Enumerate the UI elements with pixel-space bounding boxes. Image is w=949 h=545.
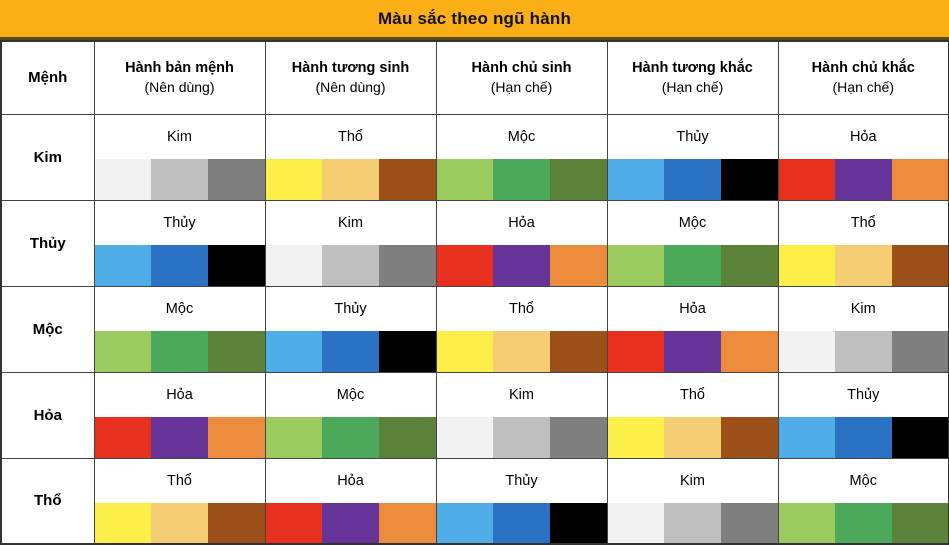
table-body: KimKimThổMộcThủyHỏaThủyThủyKimHỏaMộcThổM…	[1, 114, 949, 544]
color-swatch	[379, 245, 436, 286]
table-row: MộcMộcThủyThổHỏaKim	[1, 286, 949, 372]
color-swatch	[266, 503, 323, 544]
column-header-sub: (Hạn chế)	[779, 79, 949, 97]
element-name-label: Mộc	[95, 287, 265, 331]
color-swatch	[892, 159, 949, 200]
color-swatch	[721, 503, 778, 544]
element-name-label: Thủy	[779, 373, 949, 417]
color-swatch	[721, 417, 778, 458]
element-cell-inner: Hỏa	[437, 201, 607, 286]
color-swatch	[779, 245, 836, 286]
color-swatch	[779, 503, 836, 544]
color-swatch	[493, 159, 550, 200]
element-color-cell: Hỏa	[607, 286, 778, 372]
column-header-hanh-chu-khac: Hành chủ khắc (Hạn chế)	[778, 41, 949, 114]
element-cell-inner: Kim	[95, 115, 265, 200]
element-color-cell: Mộc	[778, 458, 949, 544]
element-name-label: Thủy	[437, 459, 607, 503]
color-swatch-strip	[437, 245, 607, 286]
element-name-label: Thủy	[95, 201, 265, 245]
column-header-hanh-chu-sinh: Hành chủ sinh (Hạn chế)	[436, 41, 607, 114]
color-swatch-strip	[608, 245, 778, 286]
color-swatch	[95, 503, 152, 544]
color-swatch	[95, 417, 152, 458]
color-swatch	[608, 503, 665, 544]
color-swatch	[95, 159, 152, 200]
column-header-main: Hành chủ khắc	[812, 60, 915, 76]
column-header-sub: (Hạn chế)	[437, 79, 607, 97]
column-header-sub: (Nên dùng)	[95, 79, 265, 97]
color-swatch	[493, 417, 550, 458]
color-swatch	[608, 159, 665, 200]
color-swatch-strip	[95, 331, 265, 372]
color-swatch	[664, 417, 721, 458]
color-swatch	[835, 331, 892, 372]
color-swatch	[664, 159, 721, 200]
color-swatch-strip	[95, 503, 265, 544]
table-row: HỏaHỏaMộcKimThổThủy	[1, 372, 949, 458]
element-cell-inner: Thổ	[266, 115, 436, 200]
color-swatch	[835, 503, 892, 544]
color-swatch	[493, 245, 550, 286]
element-color-cell: Thổ	[607, 372, 778, 458]
color-swatch	[608, 417, 665, 458]
element-color-cell: Hỏa	[436, 200, 607, 286]
color-swatch	[437, 417, 494, 458]
color-swatch	[721, 159, 778, 200]
color-swatch	[95, 331, 152, 372]
color-swatch	[721, 331, 778, 372]
element-color-cell: Hỏa	[265, 458, 436, 544]
color-swatch	[266, 159, 323, 200]
color-swatch	[437, 245, 494, 286]
color-swatch	[322, 417, 379, 458]
element-name-label: Thủy	[608, 115, 778, 159]
element-cell-inner: Thủy	[266, 287, 436, 372]
element-color-cell: Mộc	[607, 200, 778, 286]
element-color-cell: Hỏa	[778, 114, 949, 200]
element-cell-inner: Thổ	[437, 287, 607, 372]
color-swatch	[208, 331, 265, 372]
element-color-cell: Thủy	[778, 372, 949, 458]
element-cell-inner: Kim	[437, 373, 607, 458]
color-swatch-strip	[95, 245, 265, 286]
element-color-cell: Kim	[607, 458, 778, 544]
color-swatch	[151, 331, 208, 372]
element-color-cell: Thổ	[265, 114, 436, 200]
column-header-main: Hành bản mệnh	[125, 60, 234, 76]
color-swatch	[721, 245, 778, 286]
row-label-menh: Hỏa	[1, 372, 94, 458]
color-swatch-strip	[779, 331, 949, 372]
color-swatch	[608, 245, 665, 286]
element-name-label: Kim	[95, 115, 265, 159]
color-swatch-strip	[779, 159, 949, 200]
color-swatch-strip	[608, 503, 778, 544]
color-swatch	[151, 503, 208, 544]
color-swatch	[151, 245, 208, 286]
element-name-label: Kim	[266, 201, 436, 245]
color-swatch	[550, 245, 607, 286]
color-swatch	[437, 159, 494, 200]
color-swatch	[151, 159, 208, 200]
color-swatch	[892, 245, 949, 286]
element-cell-inner: Mộc	[266, 373, 436, 458]
color-swatch	[266, 245, 323, 286]
color-swatch-strip	[608, 331, 778, 372]
table-row: KimKimThổMộcThủyHỏa	[1, 114, 949, 200]
element-name-label: Kim	[779, 287, 949, 331]
color-swatch	[550, 331, 607, 372]
color-swatch-strip	[266, 159, 436, 200]
color-swatch-strip	[437, 417, 607, 458]
color-swatch	[322, 245, 379, 286]
table-row: ThổThổHỏaThủyKimMộc	[1, 458, 949, 544]
element-cell-inner: Hỏa	[266, 459, 436, 544]
row-label-menh: Mộc	[1, 286, 94, 372]
column-header-hanh-ban-menh: Hành bản mệnh (Nên dùng)	[94, 41, 265, 114]
row-label-menh: Kim	[1, 114, 94, 200]
element-color-cell: Kim	[265, 200, 436, 286]
color-swatch-strip	[608, 417, 778, 458]
color-swatch	[835, 159, 892, 200]
color-swatch-strip	[266, 417, 436, 458]
color-swatch	[779, 331, 836, 372]
column-header-sub: (Hạn chế)	[608, 79, 778, 97]
color-swatch	[664, 503, 721, 544]
column-header-menh: Mệnh	[1, 41, 94, 114]
element-name-label: Thổ	[95, 459, 265, 503]
element-cell-inner: Mộc	[437, 115, 607, 200]
color-swatch	[322, 331, 379, 372]
element-color-cell: Thủy	[265, 286, 436, 372]
color-swatch	[550, 417, 607, 458]
color-swatch-strip	[95, 159, 265, 200]
color-swatch-strip	[266, 245, 436, 286]
chart-title: Màu sắc theo ngũ hành	[378, 10, 571, 27]
element-color-cell: Mộc	[265, 372, 436, 458]
column-header-hanh-tuong-sinh: Hành tương sinh (Nên dùng)	[265, 41, 436, 114]
color-swatch	[550, 159, 607, 200]
color-swatch	[266, 417, 323, 458]
color-swatch	[208, 245, 265, 286]
element-name-label: Hỏa	[95, 373, 265, 417]
element-color-cell: Hỏa	[94, 372, 265, 458]
element-name-label: Hỏa	[779, 115, 949, 159]
color-swatch-strip	[779, 245, 949, 286]
element-color-cell: Thủy	[607, 114, 778, 200]
element-name-label: Mộc	[437, 115, 607, 159]
color-swatch-strip	[437, 503, 607, 544]
color-swatch	[379, 159, 436, 200]
color-swatch	[322, 159, 379, 200]
color-swatch	[437, 331, 494, 372]
row-label-menh: Thủy	[1, 200, 94, 286]
color-swatch-strip	[266, 331, 436, 372]
color-swatch	[208, 417, 265, 458]
element-cell-inner: Thổ	[95, 459, 265, 544]
color-swatch	[208, 503, 265, 544]
element-cell-inner: Thủy	[608, 115, 778, 200]
element-color-cell: Thổ	[436, 286, 607, 372]
element-name-label: Thủy	[266, 287, 436, 331]
element-name-label: Mộc	[608, 201, 778, 245]
element-color-cell: Kim	[778, 286, 949, 372]
element-color-cell: Thủy	[436, 458, 607, 544]
color-swatch	[892, 417, 949, 458]
element-name-label: Hỏa	[608, 287, 778, 331]
color-swatch	[664, 245, 721, 286]
color-swatch-strip	[266, 503, 436, 544]
element-cell-inner: Kim	[608, 459, 778, 544]
color-swatch	[608, 331, 665, 372]
color-swatch	[835, 417, 892, 458]
color-swatch	[379, 331, 436, 372]
element-name-label: Thổ	[266, 115, 436, 159]
element-cell-inner: Thủy	[437, 459, 607, 544]
column-header-sub: (Nên dùng)	[266, 79, 436, 97]
element-color-cell: Mộc	[436, 114, 607, 200]
element-cell-inner: Hỏa	[95, 373, 265, 458]
color-swatch-strip	[437, 159, 607, 200]
color-swatch	[493, 503, 550, 544]
color-swatch	[835, 245, 892, 286]
element-name-label: Kim	[608, 459, 778, 503]
element-name-label: Mộc	[779, 459, 949, 503]
row-label-menh: Thổ	[1, 458, 94, 544]
table-header-row: Mệnh Hành bản mệnh (Nên dùng) Hành tương…	[1, 41, 949, 114]
element-cell-inner: Thủy	[95, 201, 265, 286]
color-swatch	[779, 159, 836, 200]
color-swatch	[437, 503, 494, 544]
color-swatch	[379, 503, 436, 544]
color-swatch	[892, 331, 949, 372]
element-color-cell: Kim	[94, 114, 265, 200]
element-name-label: Hỏa	[266, 459, 436, 503]
color-swatch	[266, 331, 323, 372]
element-color-cell: Thổ	[778, 200, 949, 286]
column-header-hanh-tuong-khac: Hành tương khắc (Hạn chế)	[607, 41, 778, 114]
element-name-label: Thổ	[608, 373, 778, 417]
chart-title-band: Màu sắc theo ngũ hành	[0, 0, 949, 40]
element-name-label: Thổ	[437, 287, 607, 331]
column-header-main: Hành tương khắc	[632, 60, 753, 76]
color-swatch	[493, 331, 550, 372]
element-color-cell: Thổ	[94, 458, 265, 544]
color-swatch	[95, 245, 152, 286]
element-cell-inner: Kim	[266, 201, 436, 286]
element-cell-inner: Hỏa	[608, 287, 778, 372]
element-cell-inner: Mộc	[95, 287, 265, 372]
element-name-label: Kim	[437, 373, 607, 417]
color-swatch	[779, 417, 836, 458]
color-swatch	[379, 417, 436, 458]
element-color-cell: Thủy	[94, 200, 265, 286]
color-swatch	[322, 503, 379, 544]
color-swatch	[550, 503, 607, 544]
element-cell-inner: Hỏa	[779, 115, 949, 200]
five-elements-color-chart: Màu sắc theo ngũ hành Mệnh Hành bản mệnh…	[0, 0, 949, 540]
color-swatch	[208, 159, 265, 200]
element-cell-inner: Thổ	[608, 373, 778, 458]
element-name-label: Thổ	[779, 201, 949, 245]
column-header-main: Hành chủ sinh	[472, 60, 572, 76]
element-name-label: Mộc	[266, 373, 436, 417]
element-cell-inner: Kim	[779, 287, 949, 372]
color-swatch-strip	[779, 503, 949, 544]
color-swatch-strip	[779, 417, 949, 458]
element-cell-inner: Mộc	[779, 459, 949, 544]
column-header-main: Hành tương sinh	[292, 60, 409, 76]
element-name-label: Hỏa	[437, 201, 607, 245]
element-color-cell: Kim	[436, 372, 607, 458]
color-swatch	[664, 331, 721, 372]
table-row: ThủyThủyKimHỏaMộcThổ	[1, 200, 949, 286]
element-color-cell: Mộc	[94, 286, 265, 372]
color-swatch	[892, 503, 949, 544]
element-cell-inner: Thổ	[779, 201, 949, 286]
element-cell-inner: Mộc	[608, 201, 778, 286]
elements-color-table: Mệnh Hành bản mệnh (Nên dùng) Hành tương…	[0, 40, 949, 545]
color-swatch-strip	[95, 417, 265, 458]
color-swatch	[151, 417, 208, 458]
element-cell-inner: Thủy	[779, 373, 949, 458]
color-swatch-strip	[608, 159, 778, 200]
color-swatch-strip	[437, 331, 607, 372]
